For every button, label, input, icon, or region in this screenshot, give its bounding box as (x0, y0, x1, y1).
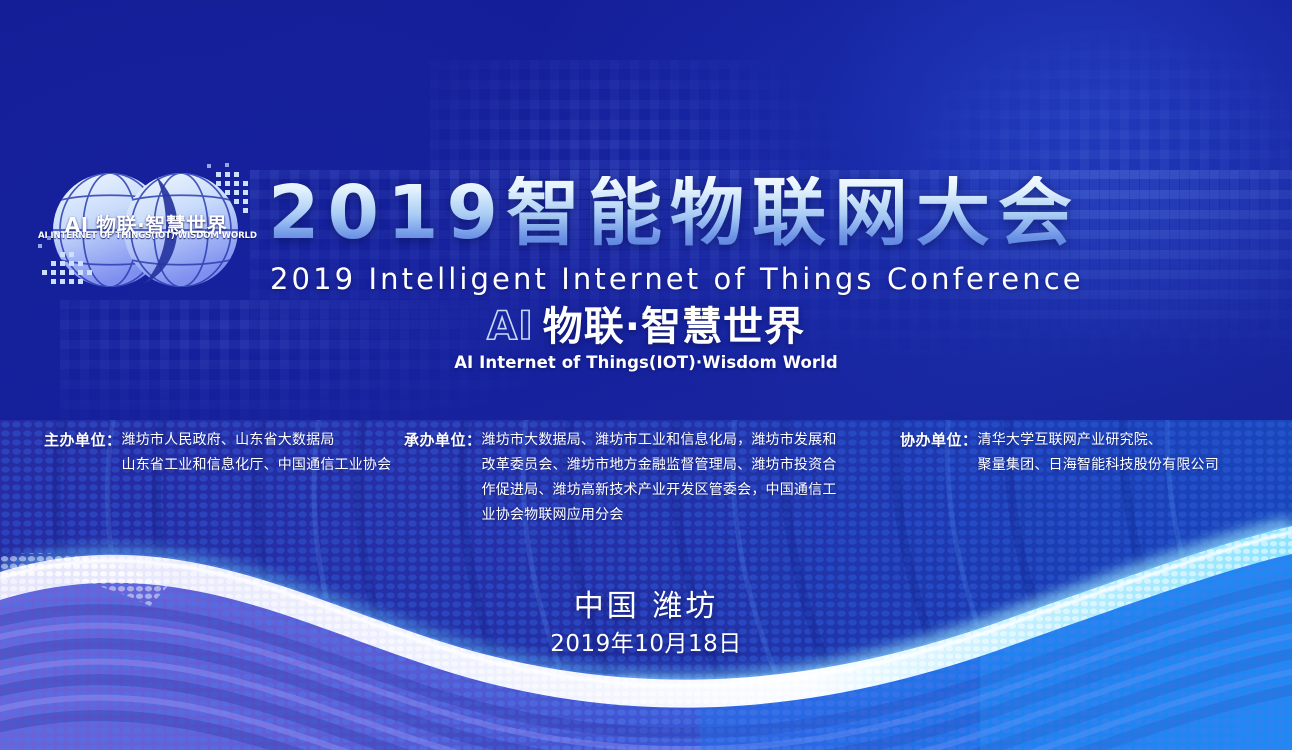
host-line: 山东省工业和信息化厅、中国通信工业协会 (122, 453, 392, 478)
host-line: 潍坊市人民政府、山东省大数据局 (122, 428, 392, 453)
coorganizer-organization-block: 协办单位： 清华大学互联网产业研究院、 聚量集团、日海智能科技股份有限公司 (900, 428, 1219, 478)
event-city: 中国 潍坊 (0, 592, 1292, 622)
organizer-line: 改革委员会、潍坊市地方金融监督管理局、潍坊市投资合 (482, 453, 837, 478)
sub-brand-chinese-text: 物联·智慧世界 (543, 307, 805, 347)
organizer-organization-block: 承办单位： 潍坊市大数据局、潍坊市工业和信息化局，潍坊市发展和 改革委员会、潍坊… (404, 428, 837, 528)
host-organization-block: 主办单位： 潍坊市人民政府、山东省大数据局 山东省工业和信息化厅、中国通信工业协… (44, 428, 391, 478)
coorganizer-label: 协办单位： (900, 428, 978, 453)
organizer-line: 潍坊市大数据局、潍坊市工业和信息化局，潍坊市发展和 (482, 428, 837, 453)
coorganizer-line: 清华大学互联网产业研究院、 (978, 428, 1219, 453)
sub-brand-english-text: AI Internet of Things(IOT)·Wisdom World (0, 353, 1292, 372)
event-date: 2019年10月18日 (0, 633, 1292, 656)
page-subtitle-english: 2019 Intelligent Internet of Things Conf… (270, 265, 1084, 294)
sub-brand-lockup: AI 物联·智慧世界 (0, 307, 1292, 347)
organizer-lines: 潍坊市大数据局、潍坊市工业和信息化局，潍坊市发展和 改革委员会、潍坊市地方金融监… (482, 428, 837, 528)
page-title: 2019智能物联网大会 (268, 176, 1080, 250)
conference-banner: AI 物联·智慧世界 AI INTERNET OF THINGS(IOT)·WI… (0, 0, 1292, 750)
organizer-line: 业协会物联网应用分会 (482, 503, 837, 528)
sub-brand-ai-text: AI (487, 307, 534, 346)
event-location-date: 中国 潍坊 2019年10月18日 (0, 592, 1292, 656)
logo-english-text: AI INTERNET OF THINGS(IOT)·WISDOM WORLD (38, 231, 253, 241)
host-label: 主办单位： (44, 428, 122, 453)
host-lines: 潍坊市人民政府、山东省大数据局 山东省工业和信息化厅、中国通信工业协会 (122, 428, 392, 478)
organizer-line: 作促进局、潍坊高新技术产业开发区管委会，中国通信工 (482, 478, 837, 503)
coorganizer-lines: 清华大学互联网产业研究院、 聚量集团、日海智能科技股份有限公司 (978, 428, 1219, 478)
coorganizer-line: 聚量集团、日海智能科技股份有限公司 (978, 453, 1219, 478)
organizer-label: 承办单位： (404, 428, 482, 453)
ai-iot-globe-logo: AI 物联·智慧世界 AI INTERNET OF THINGS(IOT)·WI… (38, 160, 253, 300)
